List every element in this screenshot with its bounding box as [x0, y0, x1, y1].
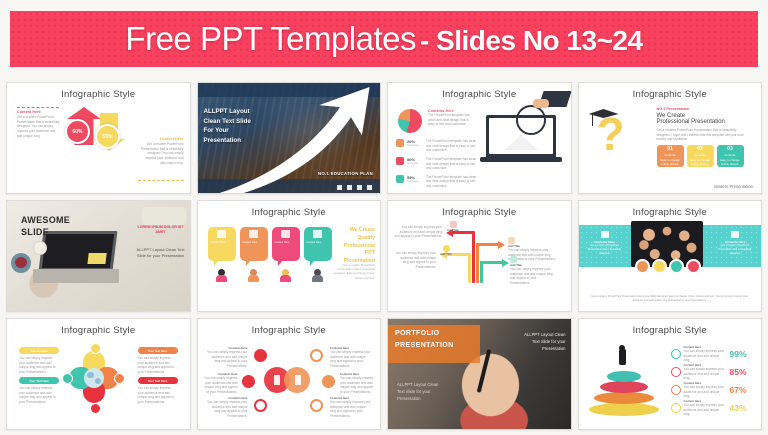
node-right [114, 373, 125, 384]
stat-icon [396, 157, 404, 165]
arrow-branch-orange [476, 243, 500, 246]
footer-text: Modern Presentation [714, 184, 753, 189]
page-title: Free PPT Templates - Slides No 13~24 [125, 20, 642, 58]
ppt-template-gallery: Free PPT Templates - Slides No 13~24 Inf… [0, 0, 768, 435]
stat-body: The PowerPoint template has clean and ne… [426, 175, 478, 189]
circle-badge-3 [669, 259, 684, 274]
icon-row [337, 185, 372, 190]
stat-icon [396, 139, 404, 147]
node-text-6: Contents Here You can simply impress you… [330, 396, 372, 419]
bubble-label: Content Here [211, 241, 233, 245]
stat-body: You can simply impress your audience and… [684, 349, 727, 363]
content-box-1: 01 Contents Easy to change colors, photo… [657, 145, 684, 167]
box-sub: Easy to change colors, photos. [687, 158, 714, 166]
item-label-3: Add Title [438, 245, 454, 256]
left-body: ALLPPT Layout Clean Text Slide for your … [397, 381, 441, 402]
slide-thumbnail-6[interactable]: Infographic Style Content Here Content H… [197, 200, 382, 312]
box-label: Contents [694, 153, 705, 157]
star-icon [367, 185, 372, 190]
bubble-icon [313, 230, 322, 238]
overlay-text: ALLPPT Layout Clean Text Slide For Your … [204, 107, 256, 145]
slide-thumbnail-11[interactable]: PORTFOLIO PRESENTATION ALLPPT Layout Cle… [387, 318, 572, 430]
avatar-1 [216, 269, 227, 282]
content-box-3: 03 Contents Easy to change colors, photo… [717, 145, 744, 167]
item-text-4: Add Title You can simply impress your au… [510, 256, 556, 286]
content-box-2: 02 Contents Easy to change colors, photo… [687, 145, 714, 167]
stat-row: 20% Text Here The PowerPoint template ha… [396, 139, 478, 153]
bubble-tail-1 [214, 260, 219, 266]
avatar-4 [312, 269, 323, 282]
right-body: Get a modern PowerPoint Presentation tha… [140, 142, 184, 165]
slide-title: Infographic Style [7, 89, 190, 100]
item-label-1: Add Title [445, 221, 461, 232]
stat-value: 43% [729, 403, 746, 413]
arrow-stem-green [480, 261, 483, 283]
speech-bubble-1: Content Here [208, 227, 236, 261]
bubble-icon [217, 230, 226, 238]
node-4 [310, 349, 323, 362]
bubble-label: Content Here [275, 241, 297, 245]
food-icon [15, 257, 27, 268]
arrow-stem-yellow [468, 253, 471, 283]
side-headline: We Create Quality Professional PPT Prese… [333, 227, 375, 266]
pill-label-4: Your Text Here [138, 377, 178, 384]
node-top [90, 343, 101, 354]
node-text-2: Contents Here You can simply impress you… [202, 372, 238, 395]
left-body: Get a modern PowerPoint Presentation tha… [587, 244, 623, 255]
node-1 [254, 349, 267, 362]
slide-grid: Infographic Style Content Here Get a mod… [6, 82, 762, 430]
node-5 [322, 375, 335, 388]
avatar-3 [280, 269, 291, 282]
slide-thumbnail-7[interactable]: Infographic Style You can simply impress… [387, 200, 572, 312]
stat-body: The PowerPoint template has clean and ne… [426, 139, 478, 153]
bubble-label: Content Here [307, 241, 329, 245]
decor-dash-top [17, 107, 59, 108]
node-body: You can simply impress your audience and… [202, 376, 238, 395]
arrow-branch-green [480, 261, 504, 264]
left-text-group: Contents Here Get a modern PowerPoint Pr… [587, 231, 623, 255]
bulb-icon [295, 375, 301, 385]
page-title-sub: - Slides No 13~24 [420, 25, 643, 56]
stack-layer-pink [600, 381, 648, 393]
stats-list: 20% Text Here The PowerPoint template ha… [396, 139, 478, 189]
avatar-2 [248, 269, 259, 282]
item-text-1: You can simply impress your audience and… [394, 225, 442, 239]
arrow-stem-red [472, 231, 475, 283]
eyebrow-text: LOREM IPSUM DOLOR SIT AMET [137, 225, 185, 235]
slide-thumbnail-8[interactable]: Infographic Style Contents Here Get a mo… [578, 200, 763, 312]
pie-body: The PowerPoint template has clean and ne… [428, 113, 476, 127]
percent-badge-1: 60% [65, 119, 90, 144]
cup-icon [33, 241, 47, 255]
item-text-3: You can simply impress your audience and… [394, 251, 436, 270]
stat-value: 85% [729, 367, 746, 377]
stack-layer-orange [594, 392, 654, 404]
decor-dash-bottom [138, 180, 184, 181]
stat-icon [671, 349, 681, 359]
item-icon [510, 256, 517, 263]
hand-icon [533, 99, 549, 108]
node-body: You can simply impress your audience and… [330, 400, 372, 419]
stat-row-3: Content Here You can simply impress your… [671, 381, 747, 399]
side-body: Get a modern PowerPoint Presentation tha… [333, 263, 375, 280]
pill-text: Your Text Here [138, 377, 178, 384]
headline-2: SLIDE [21, 227, 49, 237]
node-body: You can simply impress your audience and… [206, 400, 248, 419]
stat-row-2: Content Here You can simply impress your… [671, 363, 747, 381]
item-body: You can simply impress your audience and… [394, 251, 436, 270]
item-body: You can simply impress your audience and… [510, 267, 556, 286]
node-bottom [90, 403, 101, 414]
box-sub: Easy to change colors, photos. [717, 158, 744, 166]
question-mark-icon: ? [597, 111, 625, 157]
eyebrow-text: NO.1 Presentation [657, 107, 749, 111]
right-body: ALLPPT Layout Clean Text Slide for your … [520, 331, 566, 352]
bubble-label: Content Here [243, 241, 265, 245]
slide-title: Infographic Style [579, 207, 762, 218]
box-label: Contents [724, 153, 735, 157]
slide-thumbnail-1[interactable]: Infographic Style Content Here Get a mod… [6, 82, 191, 194]
page-title-main: Free PPT Templates [125, 20, 416, 57]
slide-title: Infographic Style [198, 207, 381, 218]
stat-icon [671, 385, 681, 395]
node-3 [254, 399, 267, 412]
stat-value: 99% [729, 349, 746, 359]
cap-tassel [592, 114, 593, 126]
slide-thumbnail-5[interactable]: AWESOME SLIDE LOREM IPSUM DOLOR SIT AMET… [6, 200, 191, 312]
bubble-tail-4 [310, 260, 315, 266]
stat-row: 80% Text Here The PowerPoint template ha… [396, 157, 478, 171]
node-left [62, 373, 73, 384]
node-text-3: Contents Here You can simply impress you… [206, 396, 248, 419]
laptop-illustration [39, 231, 118, 271]
headline-2: PRESENTATION [395, 342, 454, 349]
stat-body: You can simply impress your audience and… [684, 367, 727, 381]
stack-layer-teal [607, 371, 641, 382]
book-icon [357, 185, 362, 190]
speech-bubble-4: Content Here [304, 227, 332, 261]
speech-bubble-3: Content Here [272, 227, 300, 261]
circle-badge-1 [635, 259, 650, 274]
stat-body: You can simply impress your audience and… [684, 403, 727, 417]
node-body: You can simply impress your audience and… [206, 350, 248, 369]
slide-title: Infographic Style [579, 89, 762, 100]
person-silhouette [619, 349, 626, 365]
left-label: Content Here [17, 110, 61, 114]
slide-thumbnail-4[interactable]: Infographic Style ? NO.1 Presentation We… [578, 82, 763, 194]
side-body: ALLPPT Layout Clean Text Slide for your … [137, 247, 185, 260]
trophy-icon [274, 375, 280, 385]
box-sub: Easy to change colors, photos. [657, 158, 684, 166]
box-number: 02 [697, 146, 703, 152]
circle-badge-4 [686, 259, 701, 274]
envelope-icon [601, 231, 609, 238]
bubble-tail-3 [278, 260, 283, 266]
pill-text: Your Content [19, 347, 59, 354]
slide-thumbnail-9[interactable]: Infographic Style Your Content You can s… [6, 318, 191, 430]
right-text-group: Content Here Get a modern PowerPoint Pre… [140, 137, 184, 165]
item-icon [443, 245, 450, 252]
stat-label: Text Here [407, 180, 423, 183]
slide-title: Infographic Style [579, 325, 762, 336]
left-text-group: Content Here Get a modern PowerPoint Pre… [17, 110, 61, 138]
slide-title: Infographic Style [7, 325, 190, 336]
photo-caption: NO.1 EDUCATION PLAN [318, 171, 373, 176]
footer-body: Get a modern PowerPoint Presentation tha… [591, 295, 750, 303]
bubble-icon [249, 230, 258, 238]
box-number: 01 [667, 146, 673, 152]
stat-label: Text Here [407, 144, 423, 147]
laptop-keyboard [33, 269, 119, 283]
laptop-base [480, 157, 562, 162]
headline-group: NO.1 Presentation We Create Professional… [657, 107, 749, 142]
slide-title: Infographic Style [198, 325, 381, 336]
pill-body-2: You can simply impress your audience and… [19, 386, 59, 405]
slide-thumbnail-2[interactable]: ALLPPT Layout Clean Text Slide For Your … [197, 82, 382, 194]
pie-text-group: Contents Here The PowerPoint template ha… [428, 109, 476, 127]
pie-chart [398, 109, 422, 133]
arrow-stem-orange [476, 243, 479, 283]
slide-thumbnail-3[interactable]: Infographic Style Contents Here The Powe… [387, 82, 572, 194]
stat-value: 67% [729, 385, 746, 395]
arrow-tip-orange [498, 241, 505, 249]
stat-body: The PowerPoint template has clean and ne… [426, 157, 478, 171]
circle-badge-2 [652, 259, 667, 274]
bubble-icon [281, 230, 290, 238]
node-2 [242, 375, 255, 388]
left-body: Get a modern PowerPoint Presentation tha… [17, 115, 61, 138]
cart-icon [731, 231, 739, 238]
percent-badge-2: 55% [95, 124, 120, 149]
stat-row-1: Content Here You can simply impress your… [671, 345, 747, 363]
pill-body-4: You can simply impress your audience and… [138, 386, 178, 405]
item-icon [508, 237, 515, 244]
headline-1: PORTFOLIO [395, 330, 439, 337]
pill-label-2: Your Text Here [19, 377, 59, 384]
node-text-1: Contents Here You can simply impress you… [206, 346, 248, 369]
slide-thumbnail-10[interactable]: Infographic Style Contents Here You can … [197, 318, 382, 430]
item-title: Add Title [438, 252, 454, 256]
stat-icon [671, 367, 681, 377]
right-body: Get a modern PowerPoint Presentation tha… [717, 244, 753, 255]
stat-row: 55% Text Here The PowerPoint template ha… [396, 175, 478, 189]
person-head [619, 345, 625, 351]
box-label: Contents [664, 153, 675, 157]
stat-body: You can simply impress your audience and… [684, 385, 727, 399]
item-title: Add Title [445, 228, 461, 232]
flowers-photo [142, 207, 186, 225]
item-body: You can simply impress your audience and… [394, 225, 442, 239]
pill-label-3: Your Text Here [138, 347, 178, 354]
box-number: 03 [727, 146, 733, 152]
item-icon [450, 221, 457, 228]
headline-1: AWESOME [21, 215, 70, 225]
globe-icon [84, 368, 104, 388]
stat-label: Text Here [407, 162, 423, 165]
node-body: You can simply impress your audience and… [340, 376, 376, 395]
speech-bubble-2: Content Here [240, 227, 268, 261]
headline-body: Get a modern PowerPoint Presentation tha… [657, 128, 749, 142]
header-banner: Free PPT Templates - Slides No 13~24 [10, 11, 758, 67]
stack-layer-yellow [589, 403, 659, 416]
pill-body-1: You can simply impress your audience and… [19, 356, 59, 375]
node-body: You can simply impress your audience and… [330, 350, 372, 369]
slide-thumbnail-12[interactable]: Infographic Style Content Here You can s… [578, 318, 763, 430]
node-text-5: Contents Here You can simply impress you… [340, 372, 376, 395]
headline-2: Professional Presentation [657, 119, 749, 125]
node-6 [310, 399, 323, 412]
stat-row-4: Content Here You can simply impress your… [671, 399, 747, 417]
right-label: Content Here [140, 137, 184, 141]
stat-icon [671, 403, 681, 413]
magnifier-icon [516, 105, 546, 135]
right-text-group: Contents Here Get a modern PowerPoint Pr… [717, 231, 753, 255]
pill-body-3: You can simply impress your audience and… [138, 356, 178, 375]
pill-text: Your Text Here [138, 347, 178, 354]
pill-label-1: Your Content [19, 347, 59, 354]
node-text-4: Contents Here You can simply impress you… [330, 346, 372, 369]
pill-text: Your Text Here [19, 377, 59, 384]
slide-title: Infographic Style [388, 207, 571, 218]
stat-icon [396, 175, 404, 183]
bubble-tail-2 [246, 260, 251, 266]
flag-icon [347, 185, 352, 190]
gear-icon [337, 185, 342, 190]
